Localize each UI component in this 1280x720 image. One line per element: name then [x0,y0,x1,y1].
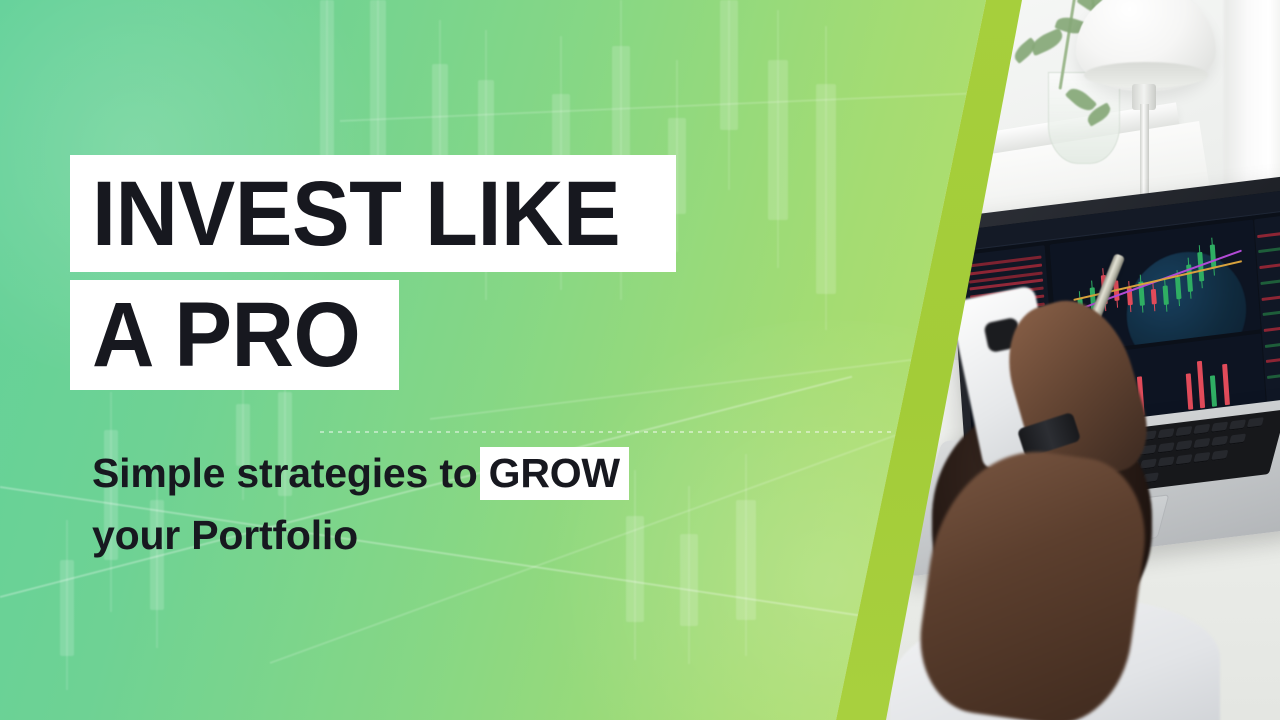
subtitle-prefix: Simple strategies to [92,450,478,496]
headline-line-1-text: INVEST LIKE [92,168,620,260]
headline-line-2: A PRO [70,280,399,390]
headline-line-2-text: A PRO [92,289,360,381]
subtitle-highlight-grow: GROW [480,447,629,500]
subtitle-group: Simple strategies toGROW your Portfolio [92,442,629,566]
promo-banner: INVEST LIKE A PRO Simple strategies toGR… [0,0,1280,720]
headline-line-1: INVEST LIKE [70,155,676,272]
subtitle-line-2: your Portfolio [92,504,629,566]
